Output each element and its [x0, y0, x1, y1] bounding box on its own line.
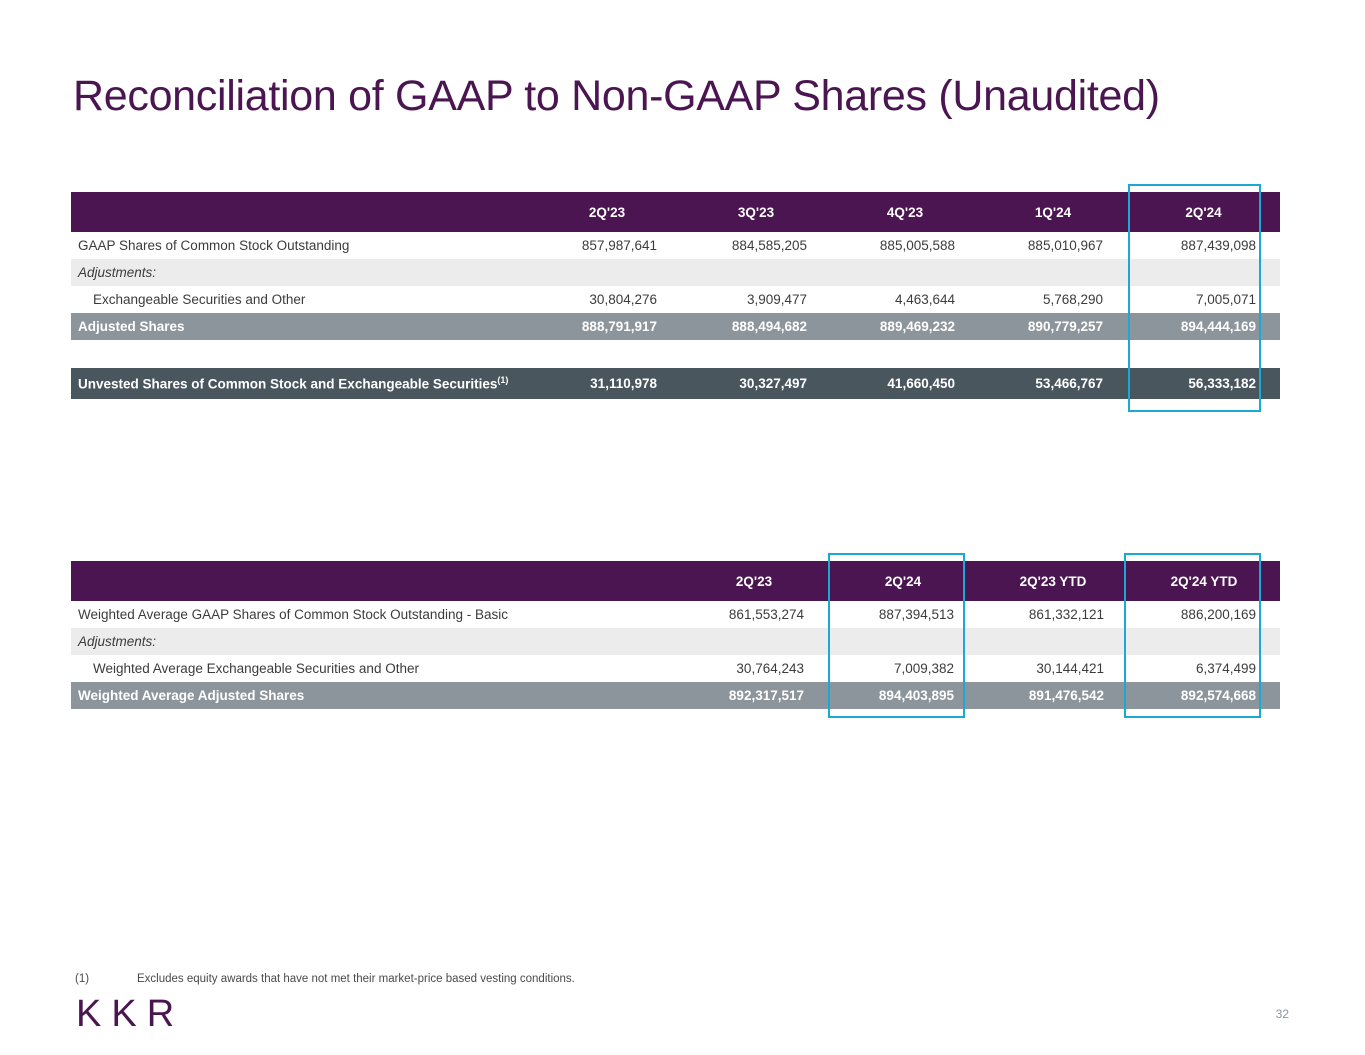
- row-value: 890,779,257: [979, 313, 1127, 340]
- table-row: Exchangeable Securities and Other 30,804…: [71, 286, 1280, 313]
- row-value: 887,394,513: [828, 601, 978, 628]
- row-value: 892,574,668: [1128, 682, 1280, 709]
- row-value: 30,327,497: [681, 368, 831, 399]
- row-value: 3,909,477: [681, 286, 831, 313]
- row-value: 888,494,682: [681, 313, 831, 340]
- table1-col-2q24: 2Q'24: [1127, 192, 1280, 232]
- row-label: Unvested Shares of Common Stock and Exch…: [71, 368, 533, 399]
- row-value: [828, 628, 978, 655]
- row-value: 861,553,274: [680, 601, 828, 628]
- row-value: 885,005,588: [831, 232, 979, 259]
- row-value: 31,110,978: [533, 368, 681, 399]
- table1-col-4q23: 4Q'23: [831, 192, 979, 232]
- footnote-marker: (1): [497, 375, 508, 385]
- row-value: 30,804,276: [533, 286, 681, 313]
- row-value: [533, 259, 681, 286]
- shares-reconciliation-table: 2Q'23 3Q'23 4Q'23 1Q'24 2Q'24 GAAP Share…: [71, 192, 1280, 340]
- table-row: Adjustments:: [71, 259, 1280, 286]
- table-row: GAAP Shares of Common Stock Outstanding …: [71, 232, 1280, 259]
- row-value: 7,005,071: [1127, 286, 1280, 313]
- row-label: Weighted Average Adjusted Shares: [71, 682, 680, 709]
- footnote-text: Excludes equity awards that have not met…: [137, 973, 575, 985]
- row-value: [1127, 259, 1280, 286]
- table1-col-2q23: 2Q'23: [533, 192, 681, 232]
- table-total-row: Weighted Average Adjusted Shares 892,317…: [71, 682, 1280, 709]
- table1-col-1q24: 1Q'24: [979, 192, 1127, 232]
- row-value: 884,585,205: [681, 232, 831, 259]
- row-value: 885,010,967: [979, 232, 1127, 259]
- table2-col-2q23-ytd: 2Q'23 YTD: [978, 561, 1128, 601]
- row-value: 4,463,644: [831, 286, 979, 313]
- kkr-logo: KKR: [76, 993, 184, 1036]
- table1-col-label: [71, 192, 533, 232]
- table-row: Weighted Average GAAP Shares of Common S…: [71, 601, 1280, 628]
- row-value: 30,764,243: [680, 655, 828, 682]
- row-label: Adjustments:: [71, 259, 533, 286]
- row-value: 894,444,169: [1127, 313, 1280, 340]
- table1-header-row: 2Q'23 3Q'23 4Q'23 1Q'24 2Q'24: [71, 192, 1280, 232]
- row-value: [680, 628, 828, 655]
- table-row: Weighted Average Exchangeable Securities…: [71, 655, 1280, 682]
- unvested-shares-row: Unvested Shares of Common Stock and Exch…: [71, 368, 1280, 399]
- row-label: Adjustments:: [71, 628, 680, 655]
- row-value: [1128, 628, 1280, 655]
- row-value: [681, 259, 831, 286]
- row-value: 30,144,421: [978, 655, 1128, 682]
- table1-col-3q23: 3Q'23: [681, 192, 831, 232]
- row-label: Exchangeable Securities and Other: [71, 286, 533, 313]
- footnote: (1)Excludes equity awards that have not …: [75, 973, 575, 985]
- table2-header-row: 2Q'23 2Q'24 2Q'23 YTD 2Q'24 YTD: [71, 561, 1280, 601]
- unvested-label-text: Unvested Shares of Common Stock and Exch…: [78, 377, 497, 392]
- row-value: 888,791,917: [533, 313, 681, 340]
- row-value: 5,768,290: [979, 286, 1127, 313]
- table2-col-2q23: 2Q'23: [680, 561, 828, 601]
- row-value: [978, 628, 1128, 655]
- slide: Reconciliation of GAAP to Non-GAAP Share…: [0, 0, 1365, 1055]
- row-label: GAAP Shares of Common Stock Outstanding: [71, 232, 533, 259]
- row-value: 857,987,641: [533, 232, 681, 259]
- row-value: 53,466,767: [979, 368, 1127, 399]
- row-label: Weighted Average GAAP Shares of Common S…: [71, 601, 680, 628]
- row-value: 56,333,182: [1127, 368, 1280, 399]
- page-title: Reconciliation of GAAP to Non-GAAP Share…: [73, 72, 1160, 121]
- row-value: 6,374,499: [1128, 655, 1280, 682]
- row-value: 887,439,098: [1127, 232, 1280, 259]
- table2-col-2q24-ytd: 2Q'24 YTD: [1128, 561, 1280, 601]
- table-row: Adjustments:: [71, 628, 1280, 655]
- row-label: Adjusted Shares: [71, 313, 533, 340]
- row-value: 891,476,542: [978, 682, 1128, 709]
- page-number: 32: [1276, 1007, 1289, 1021]
- footnote-number: (1): [75, 973, 137, 985]
- row-value: 7,009,382: [828, 655, 978, 682]
- row-value: 41,660,450: [831, 368, 979, 399]
- row-value: 894,403,895: [828, 682, 978, 709]
- table-total-row: Adjusted Shares 888,791,917 888,494,682 …: [71, 313, 1280, 340]
- weighted-average-shares-table: 2Q'23 2Q'24 2Q'23 YTD 2Q'24 YTD Weighted…: [71, 561, 1280, 709]
- row-value: 889,469,232: [831, 313, 979, 340]
- row-value: 886,200,169: [1128, 601, 1280, 628]
- row-value: 861,332,121: [978, 601, 1128, 628]
- row-value: [831, 259, 979, 286]
- row-value: [979, 259, 1127, 286]
- row-label: Weighted Average Exchangeable Securities…: [71, 655, 680, 682]
- table2-col-2q24: 2Q'24: [828, 561, 978, 601]
- row-value: 892,317,517: [680, 682, 828, 709]
- table2-col-label: [71, 561, 680, 601]
